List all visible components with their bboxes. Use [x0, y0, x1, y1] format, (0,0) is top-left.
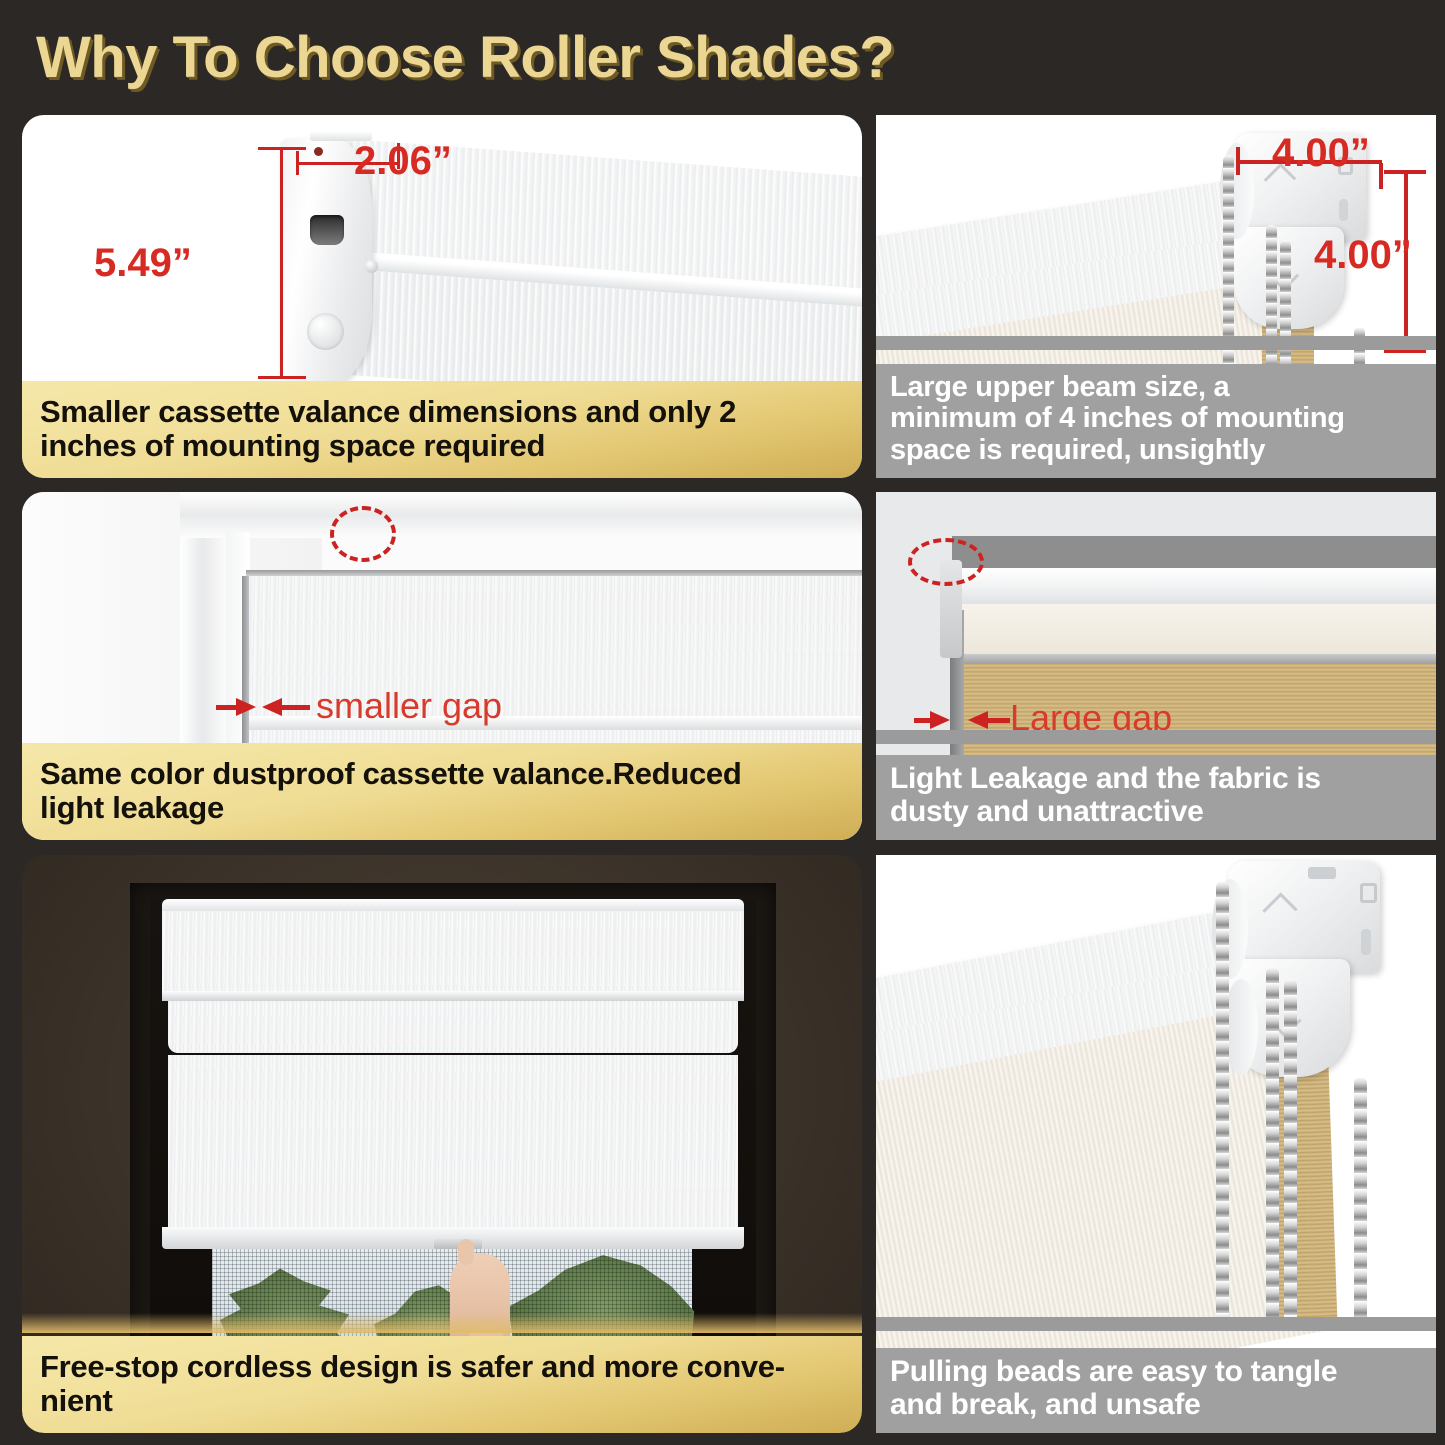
gap-highlight-circle [330, 506, 396, 562]
caption-line-1: Free-stop cordless design is safer and m… [40, 1350, 844, 1383]
bracket-slot-lower [1339, 199, 1348, 221]
bracket-slot-notch [1308, 867, 1336, 879]
height-dim-tick-bottom [258, 376, 306, 379]
shade-fabric-main [168, 1055, 738, 1230]
bead-chain-2 [1266, 967, 1279, 1325]
end-cap-slot [310, 215, 344, 245]
valance-bottom-rail [952, 654, 1436, 664]
caption-line-2: dusty and unattractive [890, 796, 1422, 828]
gap-arrow-right [262, 698, 282, 716]
p2-floor-strip [876, 336, 1436, 350]
valance-front-cream [952, 604, 1436, 656]
p2-height-dimension-label: 4.00” [1314, 233, 1412, 278]
width-dimension-label: 2.06” [354, 139, 452, 184]
panel-pulling-beads-tangle: Pulling beads are easy to tangle and bre… [876, 855, 1436, 1433]
cassette-head-lower [168, 1001, 738, 1053]
caption-line-1: Smaller cassette valance dimensions and … [40, 395, 844, 428]
panel-6-image [876, 855, 1436, 1433]
panel-3-caption: Same color dustproof cassette valance.Re… [22, 743, 862, 840]
height-dimension-label: 5.49” [94, 241, 192, 286]
panel-4-caption: Light Leakage and the fabric is dusty an… [876, 755, 1436, 840]
p2-width-tick-left [1236, 147, 1240, 175]
window-casing-top [180, 492, 862, 538]
cassette-head-face [162, 911, 744, 995]
panel-6-caption: Pulling beads are easy to tangle and bre… [876, 1348, 1436, 1433]
end-cap-knob-lower [307, 313, 344, 350]
bracket-mount-slot-b [1361, 929, 1371, 955]
gap-highlight-circle [908, 538, 984, 586]
cassette-head-top [162, 899, 744, 911]
caption-line-3: space is required, unsightly [890, 435, 1422, 466]
panel-dustproof-cassette-valance: smaller gap Same color dustproof cassett… [22, 492, 862, 840]
caption-line-2: and break, and unsafe [890, 1389, 1422, 1421]
caption-line-1: Large upper beam size, a [890, 372, 1422, 403]
cassette-head-lip [162, 991, 744, 1001]
gap-arrow-left [236, 698, 256, 716]
panel-light-leakage-dusty-fabric: Large gap Light Leakage and the fabric i… [876, 492, 1436, 840]
width-dim-tick-left [296, 151, 299, 175]
panel-free-stop-cordless-design: Free-stop cordless design is safer and m… [22, 855, 862, 1433]
panel-1-caption: Smaller cassette valance dimensions and … [22, 381, 862, 478]
bead-chain-3 [1284, 979, 1297, 1327]
end-cap-red-dot [314, 147, 323, 156]
caption-line-1: Light Leakage and the fabric is [890, 763, 1422, 795]
panel-5-caption: Free-stop cordless design is safer and m… [22, 1336, 862, 1433]
panel-large-upper-beam: 4.00” 4.00” Large upper beam size, a min… [876, 115, 1436, 478]
floor-strip [876, 730, 1436, 744]
panel-cassette-valance-dimensions: 5.49” 2.06” Smaller cassette valance dim… [22, 115, 862, 478]
finger-pinch [458, 1239, 474, 1265]
gap-arrow-left [930, 711, 950, 729]
bottom-glow [22, 1313, 862, 1333]
caption-line-2: inches of mounting space required [40, 429, 844, 462]
bead-chain-1 [1216, 881, 1229, 1323]
p2-width-tick-right [1379, 163, 1383, 189]
height-dim-line [280, 147, 283, 379]
bead-chain-4 [1354, 1077, 1367, 1327]
height-dim-tick-top [258, 147, 306, 150]
end-cap-screw-upper [365, 260, 378, 273]
gap-arrow-right [968, 711, 988, 729]
caption-line-2: minimum of 4 inches of mounting [890, 403, 1422, 434]
floor-strip [876, 1317, 1436, 1331]
smaller-gap-label: smaller gap [316, 685, 502, 727]
caption-line-2: nient [40, 1384, 844, 1417]
bracket-mount-slot-a [1360, 883, 1377, 903]
panel-2-caption: Large upper beam size, a minimum of 4 in… [876, 364, 1436, 478]
roller-end-disc-lower [1224, 979, 1258, 1075]
page-title: Why To Choose Roller Shades? [36, 22, 1136, 94]
caption-line-2: light leakage [40, 791, 844, 824]
p2-width-dimension-label: 4.00” [1272, 131, 1370, 176]
caption-line-1: Same color dustproof cassette valance.Re… [40, 757, 844, 790]
caption-line-1: Pulling beads are easy to tangle [890, 1356, 1422, 1388]
p2-height-tick-top [1384, 170, 1426, 174]
roller-bracket-upper [1228, 861, 1380, 973]
infographic-root: Why To Choose Roller Shades? 5.49” [0, 0, 1445, 1445]
